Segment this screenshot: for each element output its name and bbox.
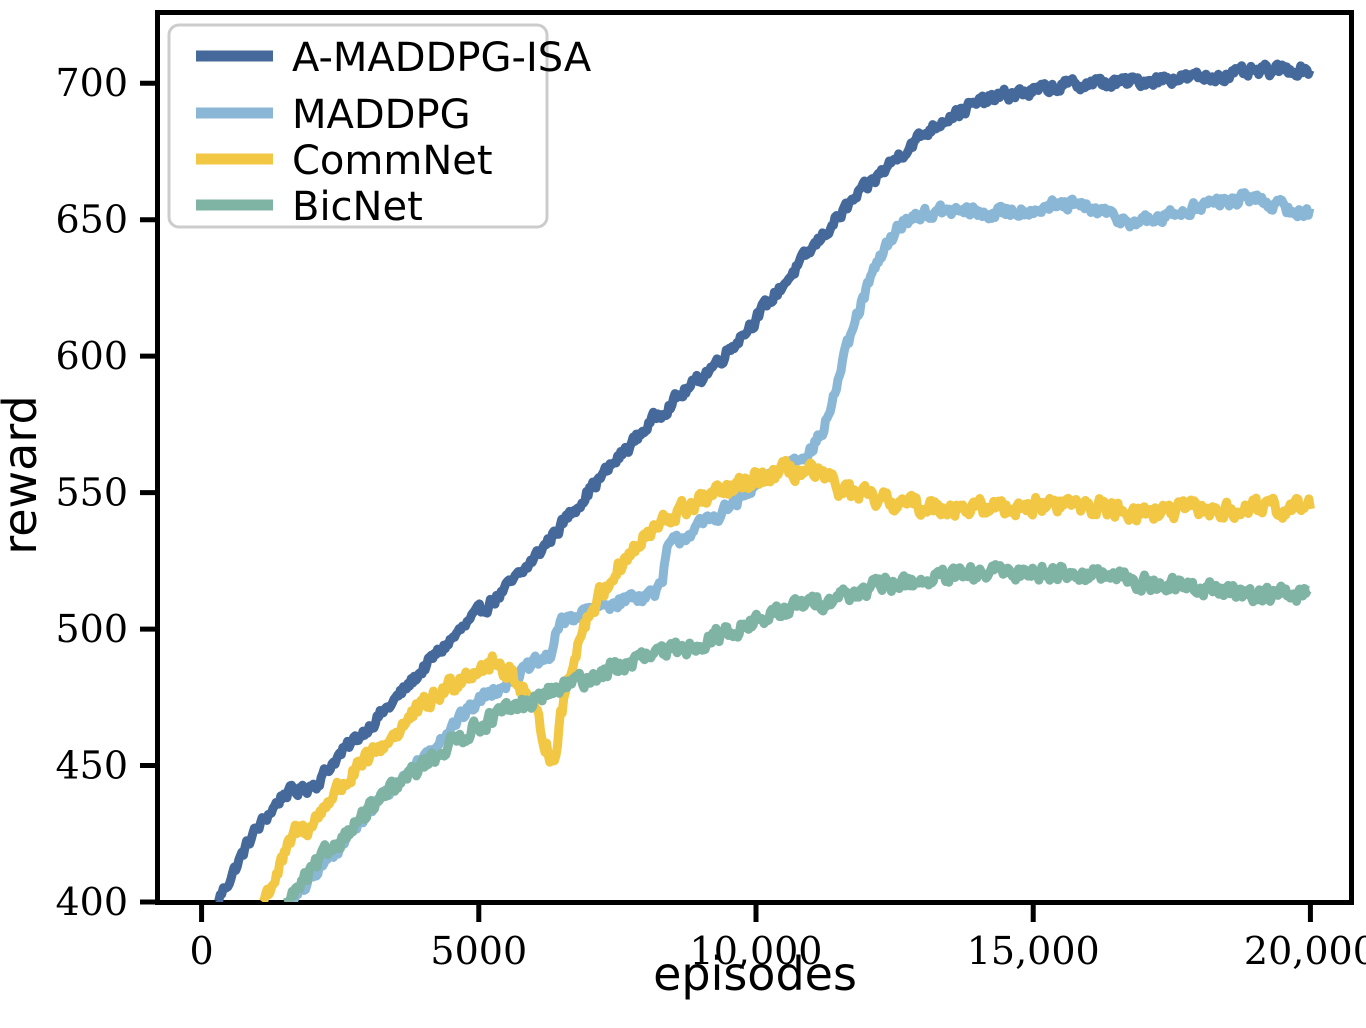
x-axis-label: episodes — [653, 947, 857, 1001]
y-tick-label: 550 — [55, 471, 128, 515]
series-line-maddpg — [293, 193, 1310, 902]
y-axis-label: reward — [0, 395, 47, 554]
y-tick-label: 450 — [55, 744, 128, 788]
legend-label-maddpg: MADDPG — [292, 92, 471, 138]
legend-label-bicnet: BicNet — [292, 184, 423, 230]
y-tick-label: 400 — [55, 880, 128, 924]
series-line-bicnet — [288, 565, 1309, 902]
x-tick-label: 0 — [189, 929, 213, 973]
y-axis-ticks: 400450500550600650700 — [55, 61, 158, 924]
x-tick-label: 5000 — [430, 929, 527, 973]
figure-canvas: 0500010,00015,00020,000 4004505005506006… — [0, 0, 1366, 1028]
x-tick-label: 15,000 — [967, 929, 1100, 973]
chart-legend[interactable]: A-MADDPG-ISAMADDPGCommNetBicNet — [169, 25, 592, 230]
legend-label-commnet: CommNet — [292, 138, 493, 184]
y-tick-label: 600 — [55, 334, 128, 378]
y-tick-label: 700 — [55, 61, 128, 105]
y-tick-label: 650 — [55, 198, 128, 242]
legend-label-a-maddpg-isa: A-MADDPG-ISA — [292, 35, 592, 81]
y-tick-label: 500 — [55, 607, 128, 651]
reward-vs-episodes-chart: 0500010,00015,00020,000 4004505005506006… — [0, 0, 1366, 1028]
x-tick-label: 20,000 — [1244, 929, 1366, 973]
